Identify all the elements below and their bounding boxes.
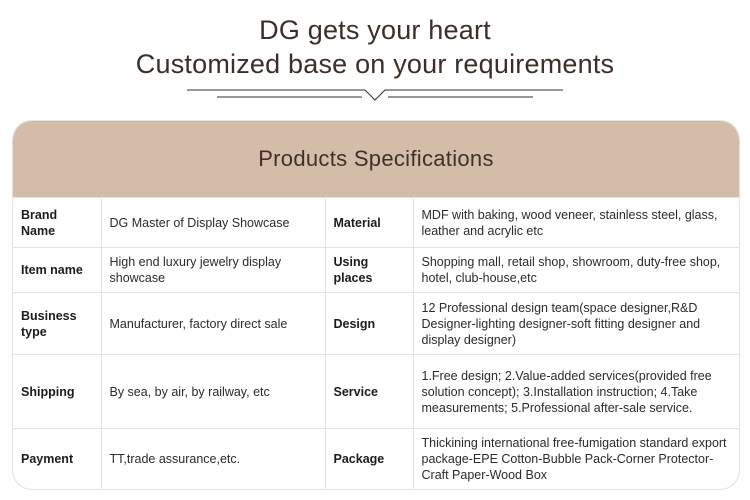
- row-value-business-type: Manufacturer, factory direct sale: [101, 293, 325, 355]
- row-label-design: Design: [325, 293, 413, 355]
- promo-spec-page: DG gets your heart Customized base on yo…: [0, 0, 750, 500]
- table-row: Business type Manufacturer, factory dire…: [13, 293, 740, 355]
- products-specifications-panel: Products Specifications Brand Name DG Ma…: [12, 120, 740, 490]
- row-value-using-places: Shopping mall, retail shop, showroom, du…: [413, 248, 740, 293]
- row-value-design: 12 Professional design team(space design…: [413, 293, 740, 355]
- row-value-material: MDF with baking, wood veneer, stainless …: [413, 198, 740, 248]
- row-value-item-name: High end luxury jewelry display showcase: [101, 248, 325, 293]
- row-value-service: 1.Free design; 2.Value-added services(pr…: [413, 355, 740, 429]
- row-label-business-type: Business type: [13, 293, 101, 355]
- row-label-shipping: Shipping: [13, 355, 101, 429]
- row-label-package: Package: [325, 429, 413, 490]
- banner-headline-secondary: Customized base on your requirements: [0, 46, 750, 80]
- banner: DG gets your heart Customized base on yo…: [0, 0, 750, 118]
- table-row: Shipping By sea, by air, by railway, etc…: [13, 355, 740, 429]
- table-row: Item name High end luxury jewelry displa…: [13, 248, 740, 293]
- table-row: Payment TT,trade assurance,etc. Package …: [13, 429, 740, 490]
- banner-headline-primary: DG gets your heart: [0, 0, 750, 46]
- row-value-shipping: By sea, by air, by railway, etc: [101, 355, 325, 429]
- row-label-brand-name: Brand Name: [13, 198, 101, 248]
- row-label-using-places: Using places: [325, 248, 413, 293]
- row-label-service: Service: [325, 355, 413, 429]
- row-label-material: Material: [325, 198, 413, 248]
- row-label-item-name: Item name: [13, 248, 101, 293]
- row-value-package: Thickining international free-fumigation…: [413, 429, 740, 490]
- row-value-payment: TT,trade assurance,etc.: [101, 429, 325, 490]
- row-value-brand-name: DG Master of Display Showcase: [101, 198, 325, 248]
- specifications-table: Brand Name DG Master of Display Showcase…: [13, 197, 740, 489]
- panel-title: Products Specifications: [13, 121, 739, 197]
- row-label-payment: Payment: [13, 429, 101, 490]
- table-row: Brand Name DG Master of Display Showcase…: [13, 198, 740, 248]
- chevron-down-divider-icon: [187, 86, 563, 108]
